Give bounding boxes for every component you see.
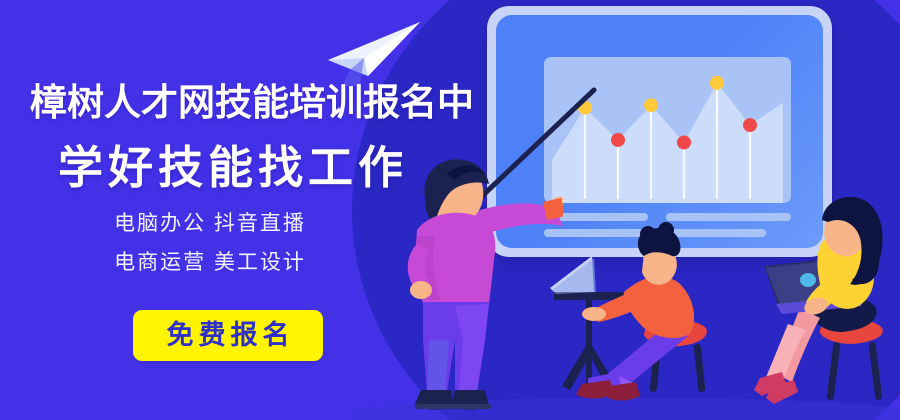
seated-woman-figure	[742, 192, 900, 420]
paper-plane-icon	[324, 14, 428, 86]
chart-marker-valley-3	[677, 135, 691, 149]
headline-line-2: 学好技能找工作	[58, 140, 438, 196]
subtitle-line-2: 电商运营 美工设计	[0, 248, 420, 278]
chart-marker-valley-5	[743, 118, 757, 132]
chart-marker-valley-1	[611, 133, 625, 147]
chart-marker-peak-2	[644, 98, 658, 112]
presenter-figure	[393, 140, 563, 420]
chart-marker-peak-4	[710, 76, 724, 90]
free-signup-button[interactable]: 免费报名	[133, 310, 323, 361]
subtitle-line-1: 电脑办公 抖音直播	[0, 209, 420, 239]
headline-line-1: 樟树人才网技能培训报名中	[30, 80, 434, 126]
seated-man-figure	[548, 214, 738, 420]
free-signup-label: 免费报名	[162, 322, 295, 349]
promo-banner: 樟树人才网技能培训报名中 学好技能找工作 电脑办公 抖音直播 电商运营 美工设计…	[0, 0, 900, 420]
